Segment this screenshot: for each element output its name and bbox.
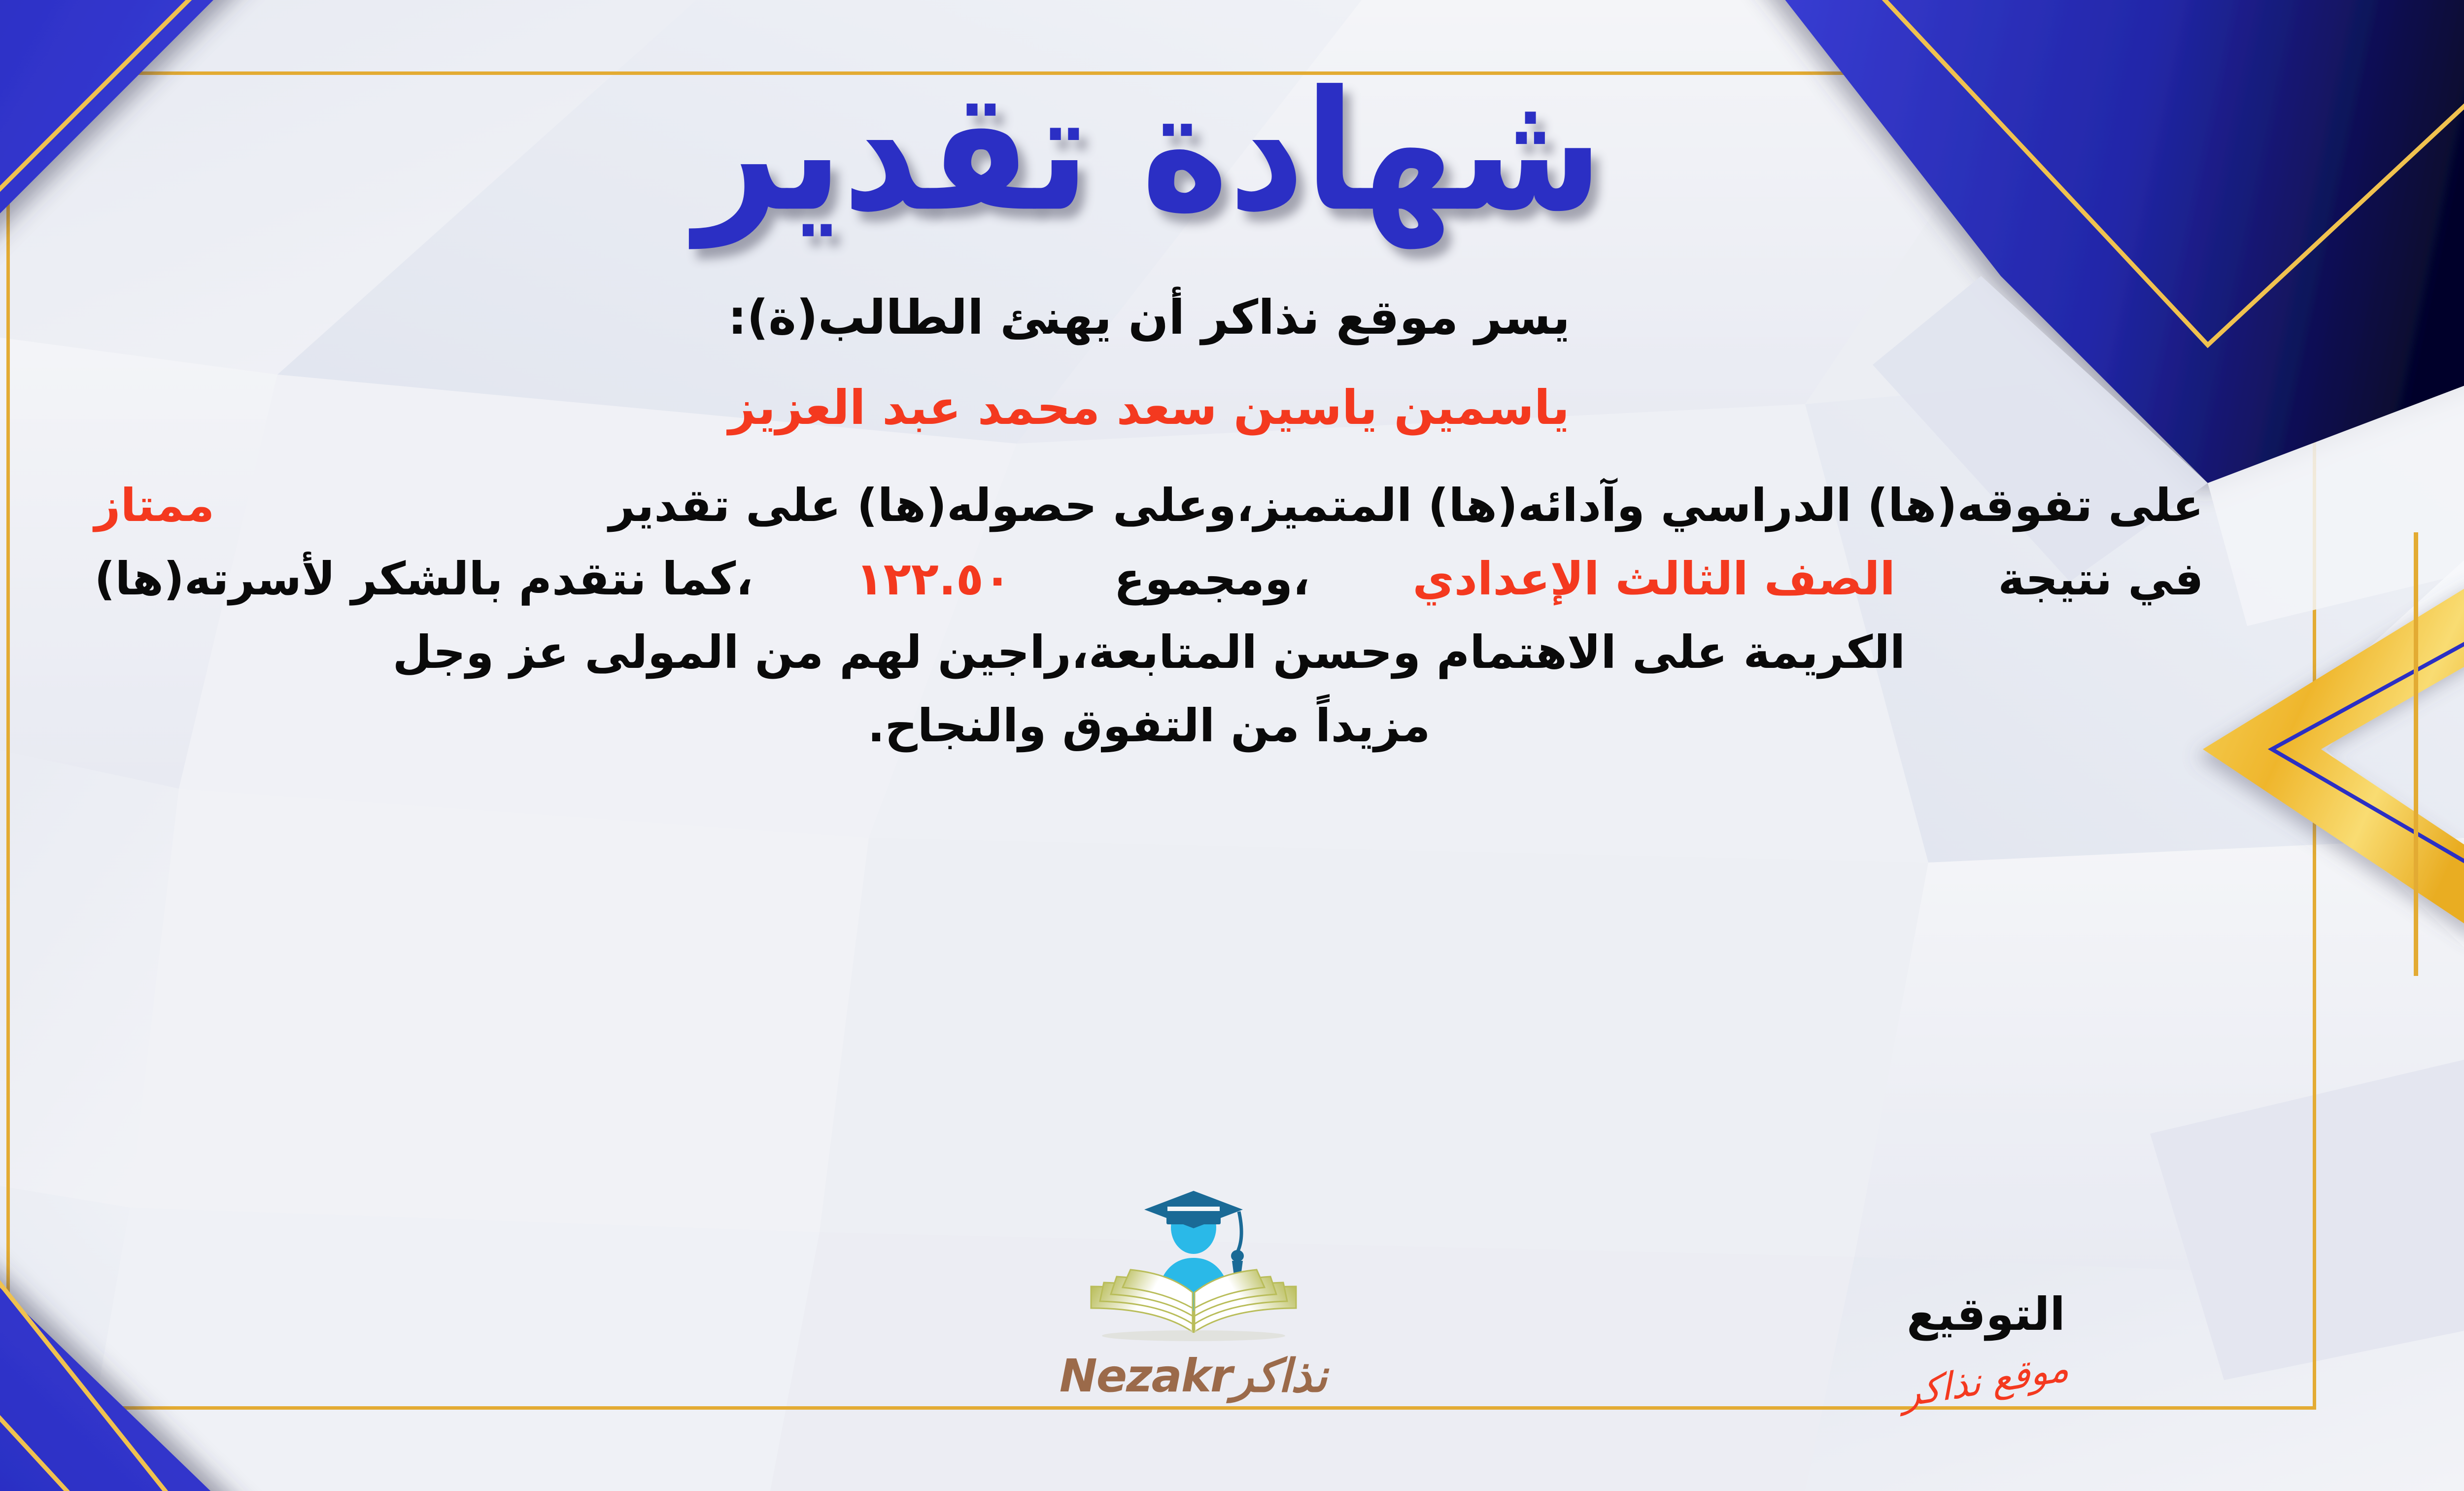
class-name: الصف الثالث الإعدادي (1412, 542, 1895, 616)
site-logo: نذاكرNezakr (972, 1184, 1415, 1402)
grade-word: ممتاز (95, 469, 215, 542)
signature-label: التوقيع (1907, 1288, 2065, 1341)
signature-block: التوقيع موقع نذاكر (1764, 1288, 2208, 1402)
certificate-title: شهادة تقدير (695, 65, 1603, 239)
intro-line: يسر موقع نذاكر أن يهنئ الطالب(ة): (65, 283, 2233, 352)
body-line-3-suffix: ،كما نتقدم بالشكر لأسرته(ها) (95, 542, 753, 616)
body-line-2: على تفوقه(ها) الدراسي وآدائه(ها) المتميز… (95, 469, 2204, 542)
body-line-4: الكريمة على الاهتمام وحسن المتابعة،راجين… (95, 616, 2204, 689)
certificate-page: شهادة تقدير يسر موقع نذاكر أن يهنئ الطال… (0, 0, 2464, 1491)
logo-wordmark-latin: Nezakr (1060, 1350, 1232, 1402)
body-line-5: مزيداً من التفوق والنجاح. (95, 689, 2204, 763)
student-name: ياسمين ياسين سعد محمد عبد العزيز (65, 374, 2233, 442)
total-score: ١٢٢.٥٠ (856, 542, 1011, 616)
graduate-book-logo-icon (1065, 1184, 1322, 1347)
body-line-2-text: على تفوقه(ها) الدراسي وآدائه(ها) المتميز… (609, 469, 2203, 542)
certificate-body: يسر موقع نذاكر أن يهنئ الطالب(ة): ياسمين… (65, 283, 2233, 763)
logo-wordmark: نذاكرNezakr (1060, 1350, 1328, 1402)
certificate-footer: التوقيع موقع نذاكر (0, 1184, 2464, 1402)
body-line-3-prefix: في نتيجة (1998, 542, 2203, 616)
body-line-3: في نتيجة الصف الثالث الإعدادي ،ومجموع ١٢… (95, 542, 2204, 616)
logo-wordmark-arabic: نذاكر (1232, 1350, 1327, 1402)
body-line-3-mid: ،ومجموع (1114, 542, 1310, 616)
body-paragraph: على تفوقه(ها) الدراسي وآدائه(ها) المتميز… (65, 469, 2233, 763)
